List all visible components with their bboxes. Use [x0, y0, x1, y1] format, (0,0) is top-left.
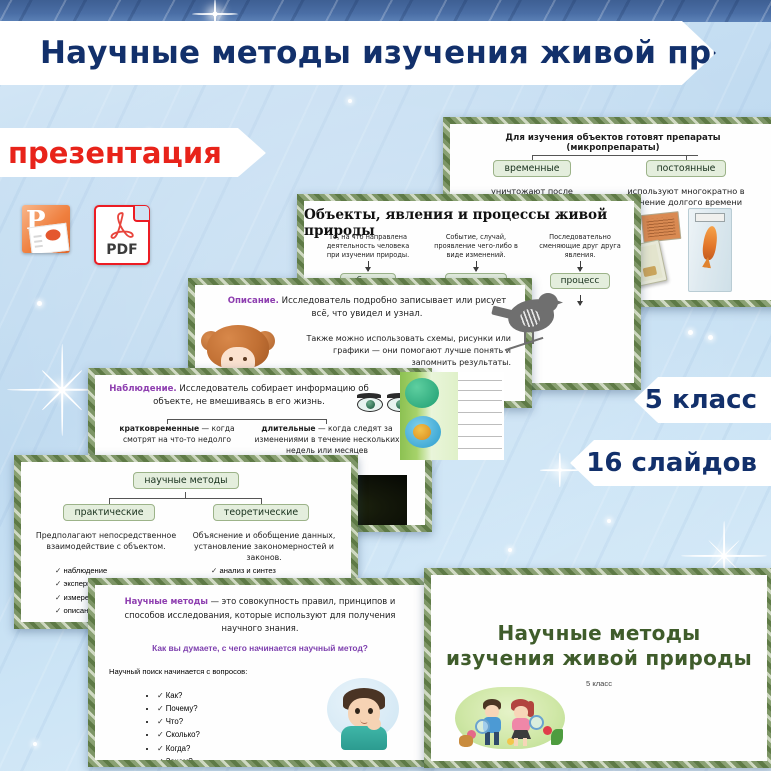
list-item: ✓ анализ и синтез: [211, 564, 276, 577]
list-item: ✓ наблюдение: [55, 564, 133, 577]
presentation-badge-ribbon: презентация: [0, 128, 266, 177]
connector-line: [185, 492, 186, 498]
magnifier-icon: [529, 715, 544, 730]
magnifier-icon: [475, 719, 490, 734]
connector-line: [109, 498, 261, 499]
flower-icon: [507, 738, 514, 745]
slide-title-heading: Научные методы изучения живой природы: [431, 621, 767, 671]
presentation-preview-card: Для изучения объектов готовят препараты …: [0, 0, 771, 771]
slide-obs-text-1: Наблюдение. Исследователь собирает инфор…: [109, 383, 369, 409]
leaf-icon: [551, 729, 563, 745]
sparkle-dot: [708, 335, 713, 340]
slides-count-badge-ribbon: 16 слайдов: [570, 440, 771, 486]
list-item: ✓ Почему?: [157, 702, 200, 715]
slide-desc-keyword: Описание.: [228, 296, 279, 306]
sparkle-dot: [348, 99, 352, 103]
slide-nm-subtitle: Научный поиск начинается с вопросов:: [109, 667, 247, 676]
slide-obj-desc-2: Событие, случай, проявление чего-либо в …: [428, 233, 524, 260]
plant-cell-diagram: [400, 372, 504, 460]
list-item: ✓ Сколько?: [157, 728, 200, 741]
list-item: ✓ Как?: [157, 689, 200, 702]
sparkle-dot: [508, 548, 512, 552]
slide-prep-box-left: временные: [474, 160, 590, 177]
slide-nm-question-list: ✓ Как? ✓ Почему? ✓ Что? ✓ Сколько? ✓ Ког…: [117, 689, 200, 760]
microscope-slide-icon: [641, 211, 682, 243]
slide-obs-left: кратковременные — когда смотрят на что-т…: [107, 423, 247, 445]
file-format-icons: P PDF: [22, 205, 150, 265]
connector-line: [532, 155, 698, 156]
slide-nm-keyword: Научные методы: [125, 596, 208, 606]
list-item: ✓ Когда?: [157, 742, 200, 755]
slide-title-class: 5 класс: [431, 679, 767, 688]
slide-thumbnail-scientific-methods[interactable]: Научные методы — это совокупность правил…: [88, 578, 432, 767]
arrow-down-icon: [476, 261, 477, 271]
powerpoint-icon: P: [22, 205, 70, 253]
slides-count-label: 16 слайдов: [586, 448, 757, 478]
slide-nm-definition: Научные методы — это совокупность правил…: [107, 595, 413, 636]
sparkle-dot: [607, 519, 611, 523]
slide-meth-box-left: практические: [49, 504, 169, 521]
specimen-jar-icon: [688, 208, 732, 292]
bird-skeleton-illustration: [508, 300, 568, 362]
slide-desc-text-2: Также можно использовать схемы, рисунки …: [295, 333, 511, 369]
jar-cap: [695, 213, 725, 222]
slide-desc-text-1: Описание. Исследователь подробно записыв…: [225, 295, 509, 321]
sparkle-dot: [688, 330, 693, 335]
slide-meth-desc-left: Предполагают непосредственное взаимодейс…: [31, 530, 181, 552]
arrow-down-icon: [580, 261, 581, 271]
sparkle-dot: [37, 301, 42, 306]
pdf-icon: PDF: [94, 205, 150, 265]
list-item: ✓ Что?: [157, 715, 200, 728]
acrobat-glyph: [109, 212, 135, 240]
arrow-down-icon: [368, 261, 369, 271]
pdf-label: PDF: [96, 242, 148, 258]
page-title-ribbon: Научные методы изучения живой природы.: [0, 21, 716, 85]
presentation-badge-label: презентация: [8, 136, 222, 170]
class-badge-ribbon: 5 класс: [634, 377, 771, 423]
slide-obs-right: длительные — когда следят за изменениями…: [247, 423, 407, 456]
thinking-boy-illustration: [327, 674, 401, 750]
slide-obj-desc-3: Последовательно сменяющие друг друга явл…: [532, 233, 628, 260]
slide-obs-keyword: Наблюдение.: [109, 384, 176, 394]
slide-thumbnail-title[interactable]: Научные методы изучения живой природы 5 …: [424, 568, 771, 768]
slide-meth-desc-right: Объяснение и обобщение данных, установле…: [189, 530, 339, 563]
leaf-icon: [459, 735, 473, 747]
sparkle-dot: [33, 742, 37, 746]
connector-line: [167, 419, 327, 420]
arrow-down-icon: [580, 295, 581, 305]
slide-meth-top-box: научные методы: [21, 472, 351, 489]
slide-prep-title: Для изучения объектов готовят препараты …: [458, 133, 768, 153]
list-item: ✓ Зачем?: [157, 755, 200, 760]
background-top-streaks: [0, 0, 771, 22]
slide-meth-box-right: теоретические: [199, 504, 323, 521]
slide-obj-desc-1: То, на что направлена деятельность челов…: [320, 233, 416, 260]
fish-specimen: [701, 226, 719, 261]
slide-prep-box-right: постоянные: [622, 160, 750, 177]
page-title: Научные методы изучения живой природы.: [40, 35, 771, 71]
two-kids-with-magnifiers-illustration: [455, 687, 565, 749]
slide-obj-label-3: процесс: [532, 273, 628, 289]
class-badge-label: 5 класс: [645, 385, 757, 415]
slide-nm-question: Как вы думаете, с чего начинается научны…: [107, 643, 413, 653]
